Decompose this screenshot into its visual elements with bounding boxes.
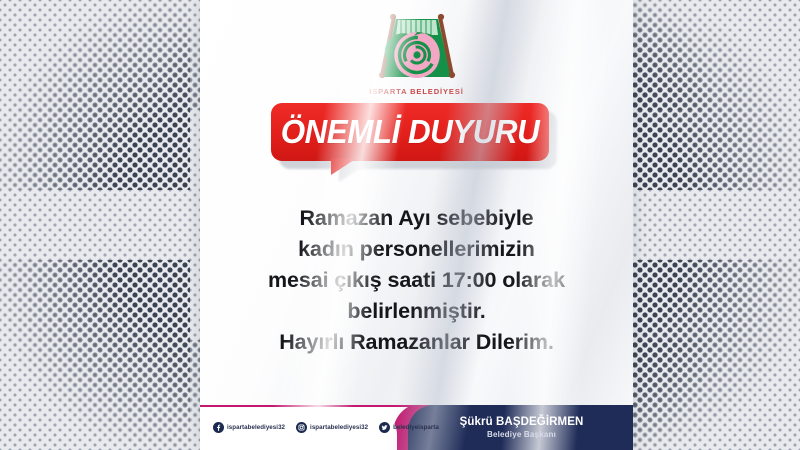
announcement-text: Ramazan Ayı sebebiyle kadın personelleri… [218, 203, 615, 358]
mayor-signature-block: Şükrü BAŞDEĞİRMEN Belediye Başkanı [419, 405, 624, 450]
announcement-line: belirlenmiştir. [218, 296, 615, 327]
crest-caption: ISPARTA BELEDİYESİ [369, 87, 463, 96]
mayor-title: Belediye Başkanı [487, 430, 556, 439]
banner-label: ÖNEMLİ DUYURU [277, 103, 541, 161]
social-link-facebook[interactable]: ispartabelediyesi32 [213, 422, 285, 433]
screenshot-canvas: ISPARTA BELEDİYESİ ÖNEMLİ DUYURU Ramazan… [0, 0, 800, 450]
mayor-name: Şükrü BAŞDEĞİRMEN [460, 416, 584, 428]
announcement-line: kadın personellerimizin [218, 234, 615, 265]
mayor-surname: BAŞDEĞİRMEN [496, 416, 583, 428]
social-handle-facebook: ispartabelediyesi32 [227, 424, 285, 431]
mayor-given-name: Şükrü [460, 416, 493, 428]
facebook-icon [213, 422, 224, 433]
announcement-line: Ramazan Ayı sebebiyle [218, 203, 615, 234]
twitter-icon [379, 422, 390, 433]
isparta-municipality-crest-icon [368, 11, 466, 85]
announcement-poster-card: ISPARTA BELEDİYESİ ÖNEMLİ DUYURU Ramazan… [200, 0, 633, 450]
social-handle-instagram: ispartabelediyesi32 [310, 424, 368, 431]
social-links: ispartabelediyesi32 ispartabelediyesi32 [213, 405, 439, 450]
announcement-line: mesai çıkış saati 17:00 olarak [218, 265, 615, 296]
crest-block: ISPARTA BELEDİYESİ [200, 11, 633, 96]
instagram-icon [296, 422, 307, 433]
important-announcement-banner: ÖNEMLİ DUYURU [267, 103, 567, 181]
poster-footer: ispartabelediyesi32 ispartabelediyesi32 [200, 405, 633, 450]
announcement-line: Hayırlı Ramazanlar Dilerim. [218, 327, 615, 358]
social-link-instagram[interactable]: ispartabelediyesi32 [296, 422, 368, 433]
